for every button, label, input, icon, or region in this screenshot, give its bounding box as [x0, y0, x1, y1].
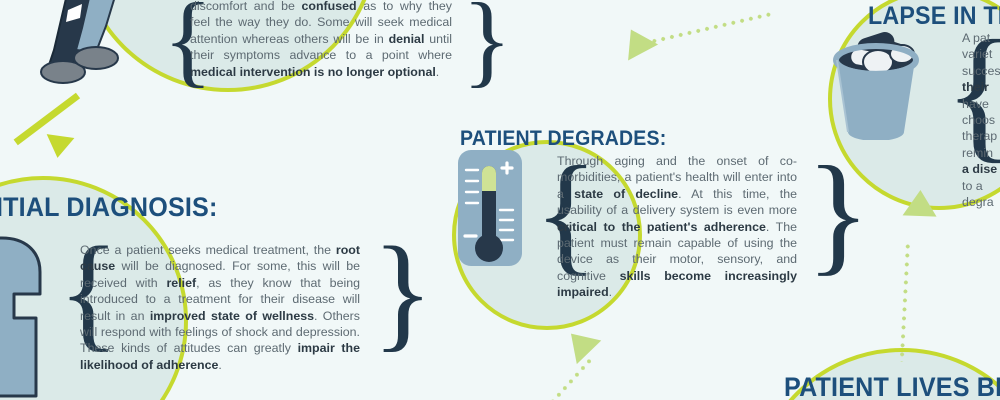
heading-initial-diagnosis: ITIAL DIAGNOSIS:: [0, 192, 218, 223]
dotted-arrow-head-right: [903, 189, 938, 216]
lapse-text-line: succes: [962, 63, 1000, 79]
dotted-path-top: [650, 12, 773, 44]
brace-right-initial-diagnosis: }: [372, 228, 433, 356]
brace-right-patient-suffers: }: [462, 0, 512, 92]
paragraph-initial-diagnosis: Once a patient seeks medical treatment, …: [80, 242, 360, 373]
lapse-text-line: therap: [962, 128, 1000, 144]
torso-icon: [0, 232, 58, 400]
lapse-text-line: degra: [962, 194, 1000, 210]
trash-with-pills-icon: [824, 28, 928, 140]
infographic-canvas: { } discomfort and be confused as to why…: [0, 0, 1000, 400]
lapse-text-line: variet: [962, 46, 1000, 62]
lapse-text-line: to a: [962, 178, 1000, 194]
lapse-text-line: A pat: [962, 30, 1000, 46]
lapse-text-line: choos: [962, 112, 1000, 128]
paragraph-lapse-in-therapy: A patvarietsuccestheir have choostherapr…: [962, 30, 1000, 210]
dotted-path-right: [900, 242, 910, 362]
lapse-text-line: have: [962, 96, 1000, 112]
arrow-head-to-initial-diagnosis: [44, 134, 75, 160]
paragraph-patient-degrades: Through aging and the onset of co-morbid…: [557, 153, 797, 301]
lapse-text-line: remin: [962, 145, 1000, 161]
dotted-path-bottom-middle: [510, 357, 593, 400]
heading-patient-lives-better: PATIENT LIVES BE: [784, 372, 1000, 400]
lapse-text-line: a dise: [962, 161, 1000, 177]
brace-right-patient-degrades: }: [806, 146, 870, 280]
paragraph-patient-suffers: discomfort and be confused as to why the…: [190, 0, 452, 80]
seated-person-icon: [10, 0, 160, 90]
thermometer-icon: [456, 148, 524, 268]
dotted-arrow-head-top: [616, 22, 658, 61]
lapse-text-line: their: [962, 79, 1000, 95]
